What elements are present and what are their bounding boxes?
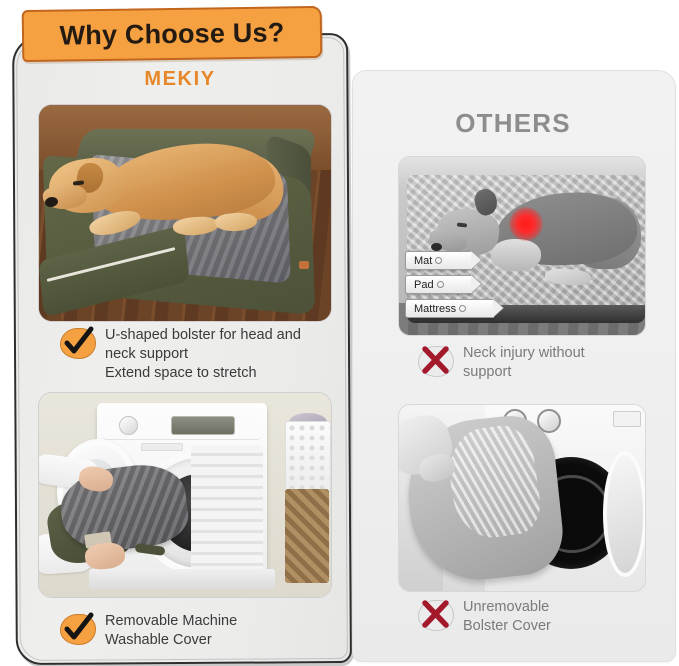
tag-dot-icon	[435, 257, 442, 264]
basket-perforated-top	[285, 421, 331, 493]
dog-nose	[431, 243, 442, 251]
display-screen	[171, 416, 235, 435]
cross-mark-glyph	[418, 598, 454, 630]
feature-line: Unremovable	[463, 598, 551, 617]
feature-line: Bolster Cover	[463, 617, 551, 636]
feature-removable-washable-cover: Removable Machine Washable Cover	[60, 612, 340, 650]
feature-text: Unremovable Bolster Cover	[463, 598, 551, 636]
bed-brand-tag	[299, 261, 309, 269]
golden-retriever	[43, 139, 279, 245]
feature-text: Removable Machine Washable Cover	[105, 612, 237, 650]
infographic-canvas: Why Choose Us? MEKIY	[0, 0, 679, 666]
feature-line: Removable Machine	[105, 612, 237, 631]
layer-tag-mat: Mat	[405, 251, 472, 270]
others-title: OTHERS	[352, 108, 674, 139]
dog-rear-paw	[214, 212, 257, 233]
check-icon	[60, 612, 96, 644]
why-choose-us-banner: Why Choose Us?	[22, 6, 323, 62]
feature-text: U-shaped bolster for head and neck suppo…	[105, 326, 301, 383]
feature-line: Extend space to stretch	[105, 364, 301, 383]
layer-tag-label: Pad	[406, 279, 437, 291]
feature-u-shaped-bolster: U-shaped bolster for head and neck suppo…	[60, 326, 340, 383]
feature-unremovable-cover: Unremovable Bolster Cover	[418, 598, 658, 636]
feature-line: Neck injury without	[463, 344, 585, 363]
feature-line: U-shaped bolster for head and	[105, 326, 301, 345]
layer-tag-label: Mat	[406, 255, 435, 267]
check-icon	[60, 326, 96, 358]
bed-layer-tags: Mat Pad Mattress	[405, 251, 494, 323]
banner-title: Why Choose Us?	[59, 17, 284, 51]
program-dial	[119, 416, 138, 435]
layer-tag-label: Mattress	[406, 303, 459, 315]
layer-tag-mattress: Mattress	[405, 299, 494, 318]
laundry-basket	[285, 413, 329, 583]
feature-neck-injury: Neck injury without support	[418, 344, 658, 382]
basket-wicker-bottom	[285, 489, 329, 583]
check-mark-glyph	[60, 326, 96, 358]
machine-side-vents	[191, 445, 263, 579]
check-mark-glyph	[60, 612, 96, 644]
photo-cover-into-washing-machine	[38, 392, 332, 598]
feature-line: Washable Cover	[105, 631, 237, 650]
tag-dot-icon	[459, 305, 466, 312]
feature-text: Neck injury without support	[463, 344, 585, 382]
cross-mark-glyph	[418, 344, 454, 376]
feature-line: neck support	[105, 345, 301, 364]
cross-icon	[418, 344, 454, 376]
open-door-panel	[603, 451, 646, 577]
brand-name: MEKIY	[14, 68, 346, 91]
dog-chest	[491, 239, 541, 271]
layer-tag-pad: Pad	[405, 275, 472, 294]
photo-dog-neck-injury-flat-bed: Mat Pad Mattress	[398, 156, 646, 336]
neck-injury-marker-icon	[509, 207, 543, 241]
start-button	[613, 411, 641, 427]
tag-dot-icon	[437, 281, 444, 288]
photo-whole-bed-into-washing-machine	[398, 404, 646, 592]
detergent-drawer	[141, 443, 183, 451]
photo-dog-on-mekiy-bolster-bed	[38, 104, 332, 322]
feature-line: support	[463, 363, 585, 382]
machine-base	[89, 569, 275, 589]
dog-paw	[544, 267, 591, 286]
cross-icon	[418, 598, 454, 630]
